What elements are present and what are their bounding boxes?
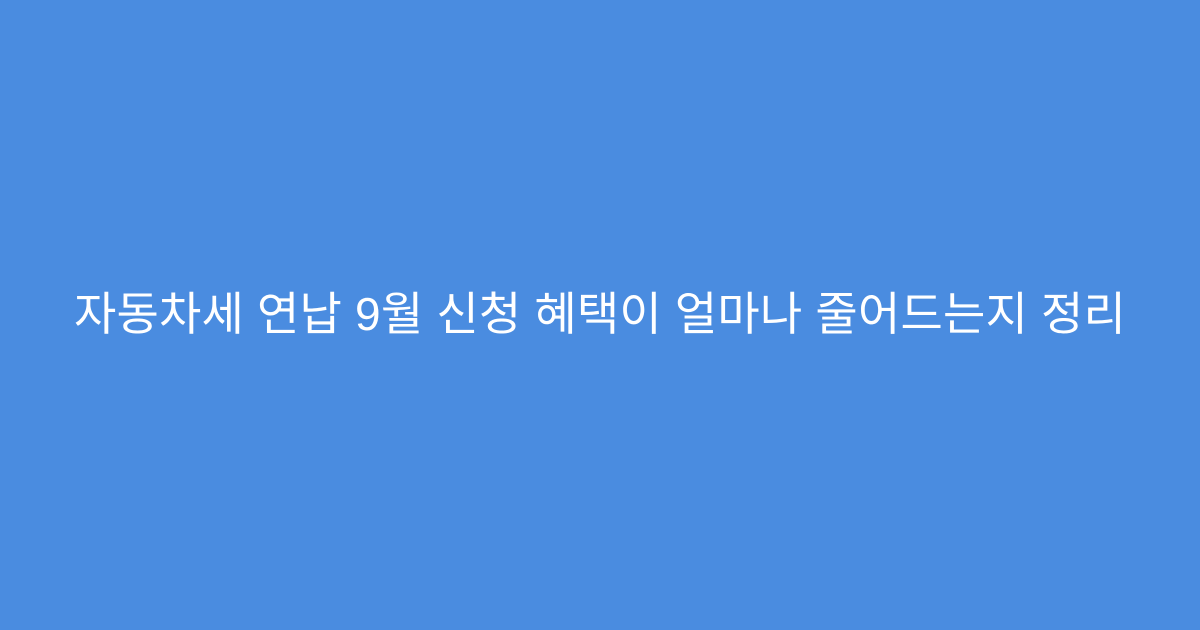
share-card-content: 자동차세 연납 9월 신청 혜택이 얼마나 줄어드는지 정리: [68, 285, 1132, 345]
share-card: 자동차세 연납 9월 신청 혜택이 얼마나 줄어드는지 정리: [0, 0, 1200, 630]
page-title: 자동차세 연납 9월 신청 혜택이 얼마나 줄어드는지 정리: [68, 285, 1132, 345]
